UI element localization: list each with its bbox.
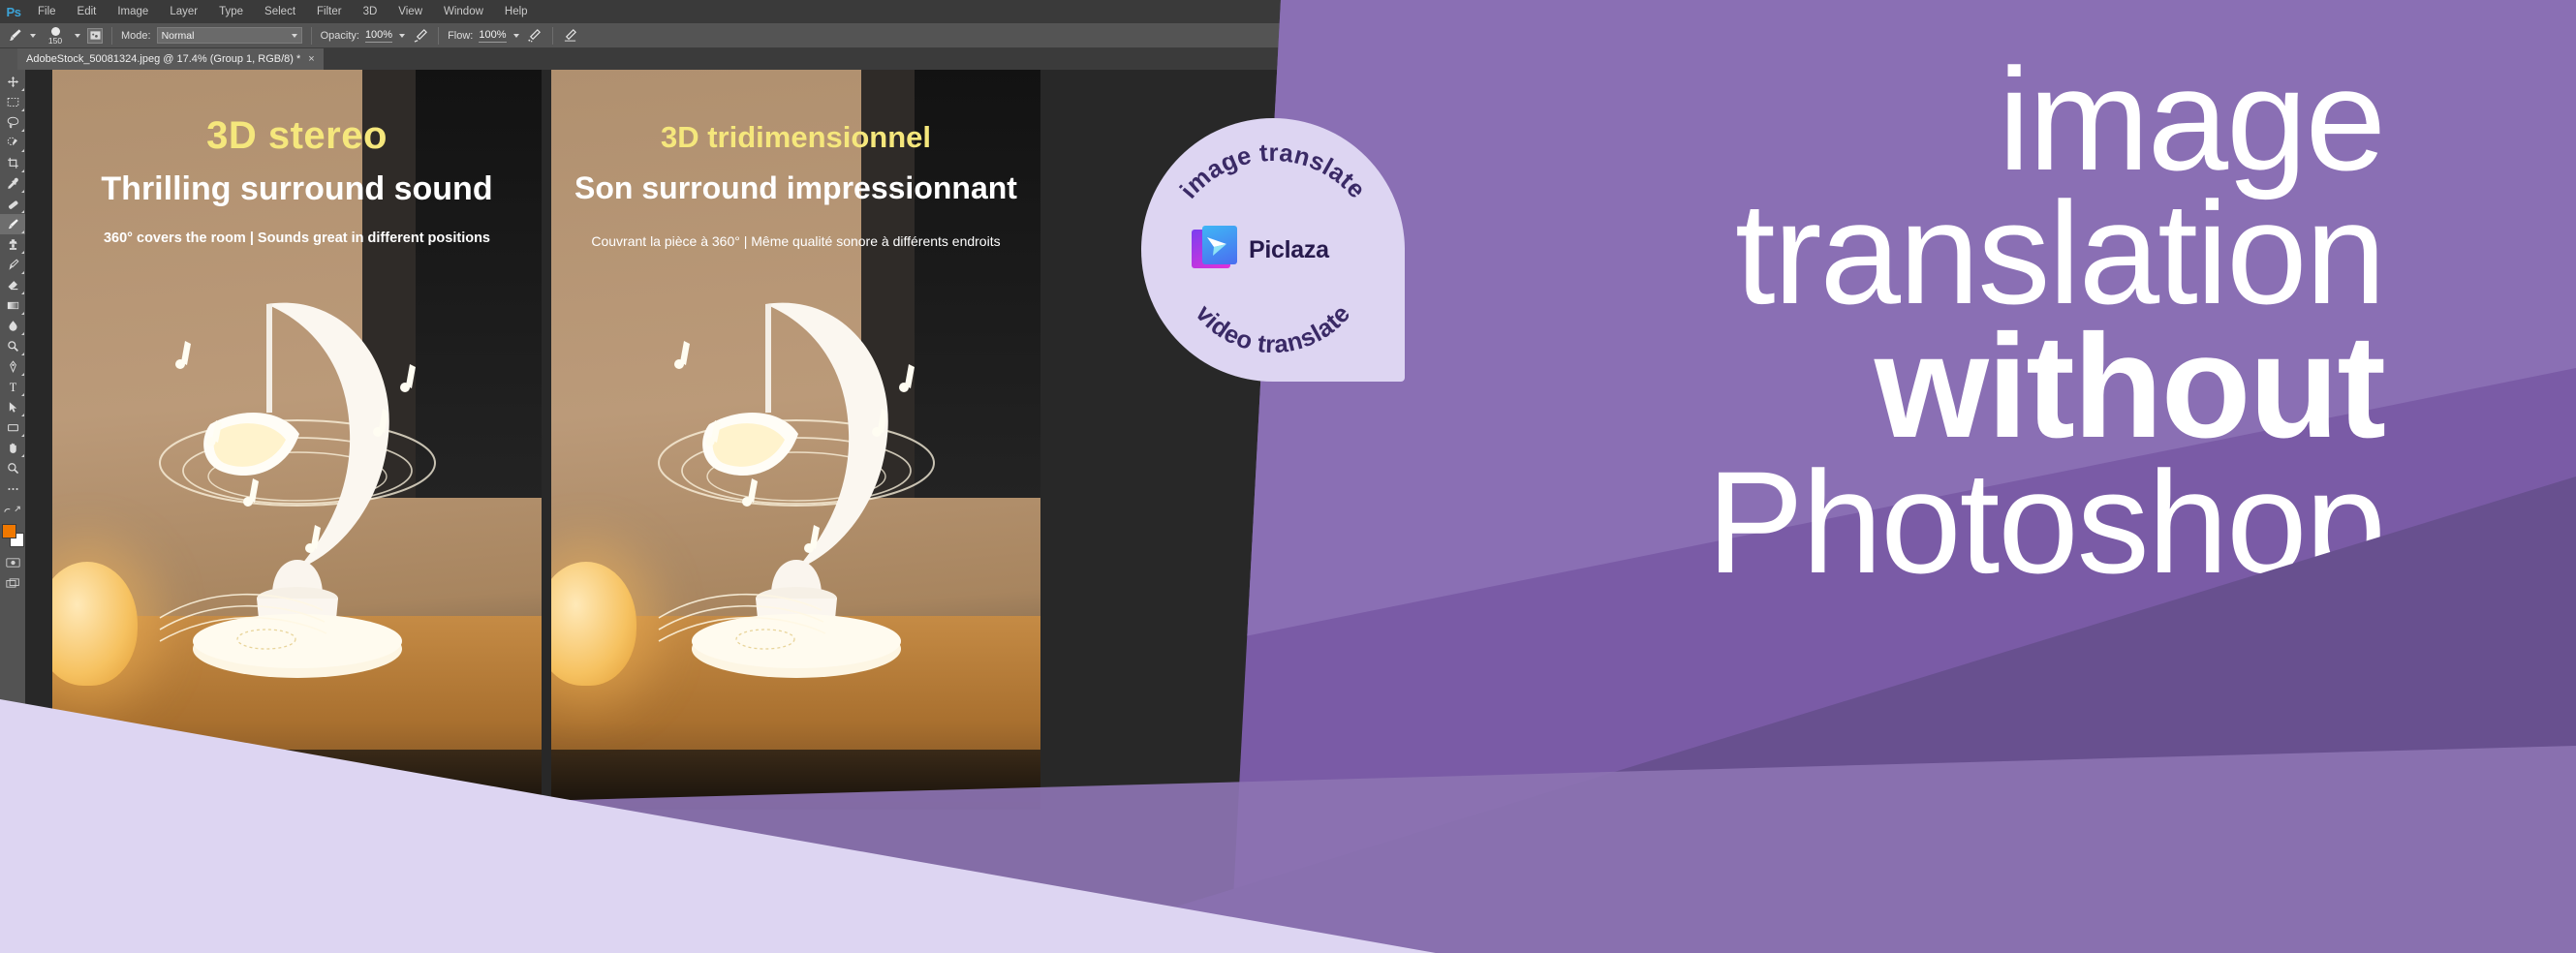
menu-item-3d[interactable]: 3D	[353, 0, 388, 23]
marquee-tool[interactable]	[0, 92, 25, 112]
menu-item-edit[interactable]: Edit	[67, 0, 108, 23]
shape-tool[interactable]	[0, 417, 25, 438]
clone-stamp-tool[interactable]	[0, 234, 25, 255]
tool-flyout-triangle-icon	[21, 169, 24, 172]
tool-flyout-triangle-icon	[21, 292, 24, 294]
brush-size-value: 150	[48, 37, 62, 45]
poster-caption: Couvrant la pièce à 360° | Même qualité …	[551, 233, 1040, 249]
menu-item-file[interactable]: File	[27, 0, 67, 23]
crop-tool[interactable]	[0, 153, 25, 173]
blend-mode-value: Normal	[162, 30, 195, 42]
tool-flyout-triangle-icon	[21, 434, 24, 437]
gradient-tool[interactable]	[0, 295, 25, 316]
menu-item-image[interactable]: Image	[107, 0, 159, 23]
quick-mask-icon[interactable]	[0, 552, 25, 572]
color-swap-row[interactable]	[0, 499, 25, 519]
quick-selection-tool[interactable]	[0, 133, 25, 153]
tool-flyout-triangle-icon	[21, 454, 24, 457]
poster-headline: 3D tridimensionnel	[551, 120, 1040, 155]
tool-flyout-triangle-icon	[21, 190, 24, 193]
piclaza-logo: Piclaza	[1192, 223, 1356, 277]
screen-mode-icon[interactable]	[0, 572, 25, 593]
pen-tool[interactable]	[0, 356, 25, 377]
piclaza-logo-icon	[1192, 226, 1240, 274]
zoom-tool[interactable]	[0, 458, 25, 478]
tool-flyout-triangle-icon	[21, 373, 24, 376]
tools-panel: T	[0, 70, 25, 953]
dodge-tool[interactable]	[0, 336, 25, 356]
poster-headline: 3D stereo	[52, 114, 542, 158]
moon-lamp-illustration	[651, 269, 942, 686]
photoshop-window: Ps File Edit Image Layer Type Select Fil…	[0, 0, 1298, 953]
piclaza-brand-text: Piclaza	[1249, 236, 1329, 264]
photoshop-logo-icon: Ps	[0, 0, 27, 23]
eraser-tool[interactable]	[0, 275, 25, 295]
poster-subheadline: Son surround impressionnant	[551, 170, 1040, 206]
move-tool[interactable]	[0, 72, 25, 92]
poster-floor-shadow	[551, 750, 1040, 810]
edit-toolbar-icon[interactable]	[0, 478, 25, 499]
tool-flyout-triangle-icon	[21, 251, 24, 254]
poster-caption: 360° covers the room | Sounds great in d…	[52, 231, 542, 246]
headline-line-2: translation	[1319, 186, 2384, 320]
tool-flyout-triangle-icon	[21, 332, 24, 335]
divider	[438, 27, 439, 45]
symmetry-icon[interactable]	[562, 27, 579, 45]
blend-mode-label: Mode:	[121, 30, 151, 42]
blend-mode-select[interactable]: Normal	[157, 27, 302, 44]
path-selection-tool[interactable]	[0, 397, 25, 417]
hand-tool[interactable]	[0, 438, 25, 458]
document-tab[interactable]: AdobeStock_50081324.jpeg @ 17.4% (Group …	[17, 48, 324, 70]
tool-options-bar: 150 Mode: Normal Opacity: 100%	[0, 23, 1298, 48]
poster-floor-shadow	[52, 750, 542, 810]
piclaza-badge[interactable]: image translate video translate Piclaza	[1141, 118, 1405, 382]
opacity-label: Opacity:	[321, 30, 359, 42]
divider	[311, 27, 312, 45]
tool-flyout-triangle-icon	[21, 88, 24, 91]
healing-brush-tool[interactable]	[0, 194, 25, 214]
brush-settings-chevron-icon[interactable]	[75, 34, 80, 38]
tool-flyout-triangle-icon	[21, 393, 24, 396]
brush-tool[interactable]	[0, 214, 25, 234]
tool-flyout-triangle-icon	[21, 129, 24, 132]
menu-item-view[interactable]: View	[388, 0, 433, 23]
brush-panel-icon[interactable]	[87, 28, 103, 44]
foreground-color-swatch[interactable]	[2, 524, 16, 538]
headline-line-4: Photoshop	[1319, 455, 2384, 589]
menu-item-window[interactable]: Window	[433, 0, 494, 23]
badge-top-text: image translate	[1175, 139, 1371, 203]
tool-flyout-triangle-icon	[21, 414, 24, 416]
brush-size-preview[interactable]: 150	[43, 26, 68, 46]
promotional-banner: Ps File Edit Image Layer Type Select Fil…	[0, 0, 2576, 953]
menu-item-filter[interactable]: Filter	[306, 0, 353, 23]
document-tab-bar: AdobeStock_50081324.jpeg @ 17.4% (Group …	[0, 48, 1298, 70]
tool-flyout-triangle-icon	[21, 353, 24, 355]
history-brush-tool[interactable]	[0, 255, 25, 275]
menu-item-layer[interactable]: Layer	[159, 0, 208, 23]
menu-item-select[interactable]: Select	[254, 0, 306, 23]
menu-item-help[interactable]: Help	[494, 0, 539, 23]
glowing-egg-lamp	[52, 562, 138, 686]
paper-plane-icon	[1205, 234, 1228, 258]
opacity-chevron-icon[interactable]	[399, 34, 405, 38]
svg-text:T: T	[9, 381, 16, 393]
tab-bar-spacer	[0, 48, 17, 70]
menu-item-type[interactable]: Type	[208, 0, 254, 23]
document-tab-title: AdobeStock_50081324.jpeg @ 17.4% (Group …	[26, 53, 300, 65]
headline-line-1: image	[1319, 52, 2384, 186]
airbrush-icon[interactable]	[526, 27, 543, 45]
divider	[111, 27, 112, 45]
translated-poster-artwork[interactable]: 3D tridimensionnel Son surround impressi…	[551, 70, 1040, 810]
source-poster-artwork[interactable]: 3D stereo Thrilling surround sound 360° …	[52, 70, 542, 810]
pressure-opacity-icon[interactable]	[412, 27, 429, 45]
brush-preset-chevron-icon[interactable]	[30, 34, 36, 38]
tool-flyout-triangle-icon	[21, 231, 24, 233]
flow-value[interactable]: 100%	[479, 29, 506, 43]
badge-bottom-text: video translate	[1191, 300, 1356, 358]
eyedropper-tool[interactable]	[0, 173, 25, 194]
poster-subheadline: Thrilling surround sound	[52, 170, 542, 208]
close-icon[interactable]: ×	[308, 53, 314, 65]
glowing-egg-lamp	[551, 562, 636, 686]
brush-tool-icon[interactable]	[6, 27, 23, 45]
moon-lamp-illustration	[152, 269, 443, 686]
lasso-tool[interactable]	[0, 112, 25, 133]
tool-flyout-triangle-icon	[21, 312, 24, 315]
divider	[552, 27, 553, 45]
blur-tool[interactable]	[0, 316, 25, 336]
flow-chevron-icon[interactable]	[513, 34, 519, 38]
tool-flyout-triangle-icon	[21, 271, 24, 274]
flow-label: Flow:	[448, 30, 473, 42]
tool-flyout-triangle-icon	[21, 108, 24, 111]
tool-flyout-triangle-icon	[21, 210, 24, 213]
type-tool[interactable]: T	[0, 377, 25, 397]
brush-dot-icon	[51, 27, 60, 36]
menu-bar: Ps File Edit Image Layer Type Select Fil…	[0, 0, 1298, 23]
promo-headline: image translation without Photoshop	[1319, 52, 2384, 589]
canvas-area[interactable]: 3D stereo Thrilling surround sound 360° …	[25, 70, 1298, 953]
tool-flyout-triangle-icon	[21, 149, 24, 152]
foreground-background-color[interactable]	[0, 523, 25, 548]
headline-line-3: without	[1319, 320, 2384, 455]
opacity-value[interactable]: 100%	[365, 29, 392, 43]
chevron-down-icon	[292, 34, 297, 38]
